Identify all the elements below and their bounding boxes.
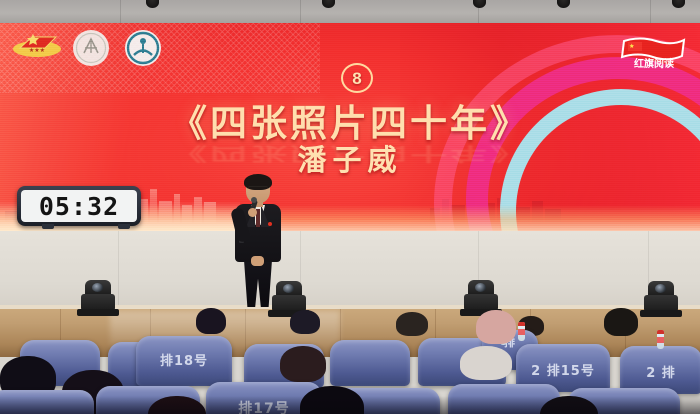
speaker-name-text: 潘子威 bbox=[0, 137, 700, 179]
audience-head bbox=[290, 310, 320, 334]
contestant-number-badge: 8 bbox=[341, 63, 373, 93]
contestant-speaker bbox=[232, 176, 284, 307]
audience-head bbox=[460, 346, 512, 380]
water-bottle bbox=[657, 330, 664, 349]
seat-label: 2 排 bbox=[620, 362, 700, 381]
audience-head bbox=[196, 308, 226, 334]
audience-head bbox=[396, 312, 428, 336]
audience-head bbox=[476, 310, 516, 344]
red-lapel-pin bbox=[268, 222, 272, 226]
timer-foot-right bbox=[118, 224, 130, 229]
glasses-icon bbox=[248, 186, 268, 192]
seat[interactable] bbox=[330, 340, 410, 386]
seat[interactable]: 2 排 bbox=[620, 346, 700, 394]
seat[interactable]: 排18号 bbox=[136, 336, 232, 386]
audience-area: 排18号 排 2 排15号 2 排 bbox=[0, 300, 700, 414]
audience-head bbox=[604, 308, 638, 336]
water-bottle bbox=[518, 322, 525, 341]
timer-foot-left bbox=[42, 224, 54, 229]
ceiling bbox=[0, 0, 700, 24]
audience-head bbox=[280, 346, 326, 382]
screenshot-root: ★★★ 红旗阅读 bbox=[0, 0, 700, 414]
ceiling-spotlight bbox=[473, 0, 486, 8]
countdown-timer: 05:32 bbox=[17, 186, 141, 226]
timer-display: 05:32 bbox=[21, 190, 137, 222]
ceiling-spotlight bbox=[322, 0, 335, 8]
seat-label: 2 排15号 bbox=[516, 360, 610, 379]
ceiling-spotlight bbox=[557, 0, 570, 8]
ceiling-spotlight bbox=[146, 0, 159, 8]
foreground-shadow bbox=[0, 396, 700, 414]
seat-label: 排18号 bbox=[136, 350, 232, 369]
ceiling-spotlight bbox=[672, 0, 685, 8]
